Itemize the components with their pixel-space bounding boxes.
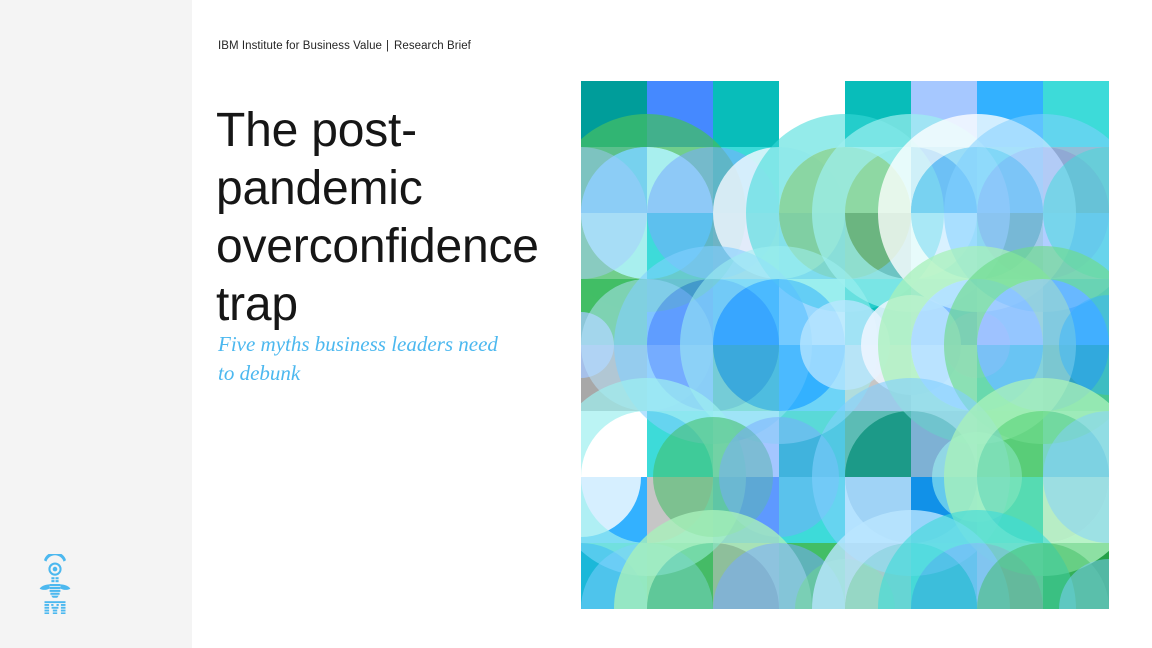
graphic-cell [779, 411, 845, 477]
graphic-cell [647, 279, 713, 345]
graphic-cell [647, 213, 713, 279]
graphic-cell [977, 213, 1043, 279]
graphic-cell [1043, 345, 1109, 411]
graphic-grid [581, 81, 1109, 609]
breadcrumb-separator: | [382, 40, 394, 52]
graphic-cell [713, 279, 779, 345]
graphic-cell [647, 411, 713, 477]
graphic-cell [713, 345, 779, 411]
graphic-cell [713, 147, 779, 213]
left-accent-band [0, 0, 192, 648]
breadcrumb-primary: IBM Institute for Business Value [218, 40, 382, 52]
graphic-cell [1043, 147, 1109, 213]
graphic-cell [845, 543, 911, 609]
graphic-cell [977, 81, 1043, 147]
graphic-cell [977, 345, 1043, 411]
graphic-cell [845, 477, 911, 543]
graphic-cell [977, 147, 1043, 213]
graphic-cell [581, 477, 647, 543]
graphic-cell [977, 543, 1043, 609]
graphic-cell [779, 213, 845, 279]
graphic-cell [581, 345, 647, 411]
graphic-cell [581, 411, 647, 477]
graphic-cell [911, 543, 977, 609]
graphic-cell [977, 279, 1043, 345]
ibv-logo-icon [38, 554, 72, 614]
breadcrumb-secondary: Research Brief [394, 40, 471, 52]
graphic-cell [1043, 543, 1109, 609]
graphic-cell [845, 279, 911, 345]
graphic-cell [713, 213, 779, 279]
graphic-cell [911, 411, 977, 477]
graphic-cell [647, 543, 713, 609]
graphic-cell [1043, 213, 1109, 279]
graphic-cell [647, 477, 713, 543]
graphic-cell [845, 147, 911, 213]
graphic-cell [1043, 279, 1109, 345]
page-subtitle: Five myths business leaders need to debu… [218, 330, 518, 388]
graphic-cell [581, 147, 647, 213]
ibm-ibv-logo [38, 554, 72, 614]
cover-graphic [581, 81, 1109, 609]
graphic-cell [845, 345, 911, 411]
graphic-cell [911, 213, 977, 279]
graphic-cell [1043, 477, 1109, 543]
graphic-cell [911, 345, 977, 411]
graphic-cell [779, 477, 845, 543]
graphic-cell [713, 411, 779, 477]
graphic-cell [845, 213, 911, 279]
graphic-cell [977, 477, 1043, 543]
graphic-cell [581, 81, 647, 147]
graphic-cell [977, 411, 1043, 477]
graphic-cell [779, 147, 845, 213]
graphic-cell [779, 543, 845, 609]
graphic-cell [911, 81, 977, 147]
graphic-cell [845, 81, 911, 147]
cover-page: IBM Institute for Business Value|Researc… [0, 0, 1152, 648]
graphic-cell [713, 477, 779, 543]
graphic-cell [647, 147, 713, 213]
graphic-cell [647, 345, 713, 411]
graphic-cell [581, 543, 647, 609]
graphic-cell [581, 279, 647, 345]
graphic-cell [845, 411, 911, 477]
page-title: The post-pandemic overconfidence trap [216, 102, 576, 334]
graphic-cell [779, 345, 845, 411]
graphic-cell [779, 279, 845, 345]
graphic-cell [779, 81, 845, 147]
graphic-cell [1043, 81, 1109, 147]
graphic-cell [713, 543, 779, 609]
text-column: IBM Institute for Business Value|Researc… [218, 0, 568, 648]
graphic-cell [911, 147, 977, 213]
graphic-cell [911, 279, 977, 345]
graphic-cell [581, 213, 647, 279]
breadcrumb: IBM Institute for Business Value|Researc… [218, 40, 471, 52]
graphic-cell [713, 81, 779, 147]
graphic-cell [911, 477, 977, 543]
graphic-cell [1043, 411, 1109, 477]
graphic-cell [647, 81, 713, 147]
